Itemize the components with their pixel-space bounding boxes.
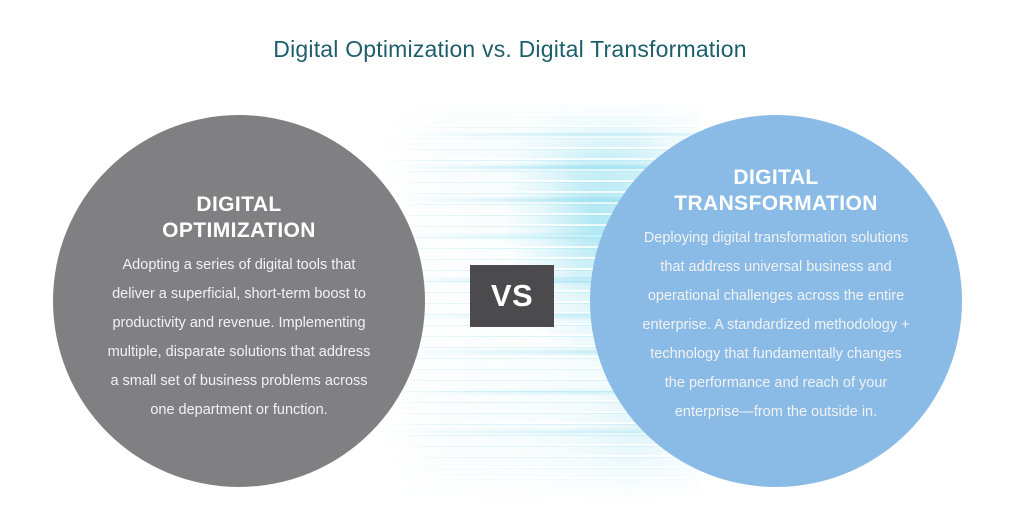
versus-badge: VS [470,265,554,327]
body-line: productivity and revenue. Implementing [84,309,394,338]
digital-optimization-circle: DIGITAL OPTIMIZATION Adopting a series o… [53,115,425,487]
digital-optimization-heading-line-2: OPTIMIZATION [89,218,389,244]
body-line: multiple, disparate solutions that addre… [84,338,394,367]
body-line: enterprise—from the outside in. [621,398,931,427]
digital-transformation-body: Deploying digital transformation solutio… [621,224,931,427]
digital-optimization-body: Adopting a series of digital tools that … [84,251,394,425]
digital-transformation-circle: DIGITAL TRANSFORMATION Deploying digital… [590,115,962,487]
infographic-canvas: Digital Optimization vs. Digital Transfo… [0,0,1020,525]
body-line: that address universal business and [621,253,931,282]
body-line: enterprise. A standardized methodology + [621,311,931,340]
body-line: the performance and reach of your [621,369,931,398]
digital-optimization-heading-line-1: DIGITAL [89,192,389,218]
body-line: a small set of business problems across [84,367,394,396]
page-title: Digital Optimization vs. Digital Transfo… [0,36,1020,63]
digital-transformation-heading-line-1: DIGITAL [626,165,926,191]
digital-transformation-heading-line-2: TRANSFORMATION [626,191,926,217]
versus-label: VS [491,278,533,314]
body-line: Deploying digital transformation solutio… [621,224,931,253]
digital-transformation-heading: DIGITAL TRANSFORMATION [626,165,926,217]
body-line: Adopting a series of digital tools that [84,251,394,280]
digital-optimization-heading: DIGITAL OPTIMIZATION [89,192,389,244]
body-line: deliver a superficial, short-term boost … [84,280,394,309]
body-line: one department or function. [84,396,394,425]
body-line: technology that fundamentally changes [621,340,931,369]
body-line: operational challenges across the entire [621,282,931,311]
